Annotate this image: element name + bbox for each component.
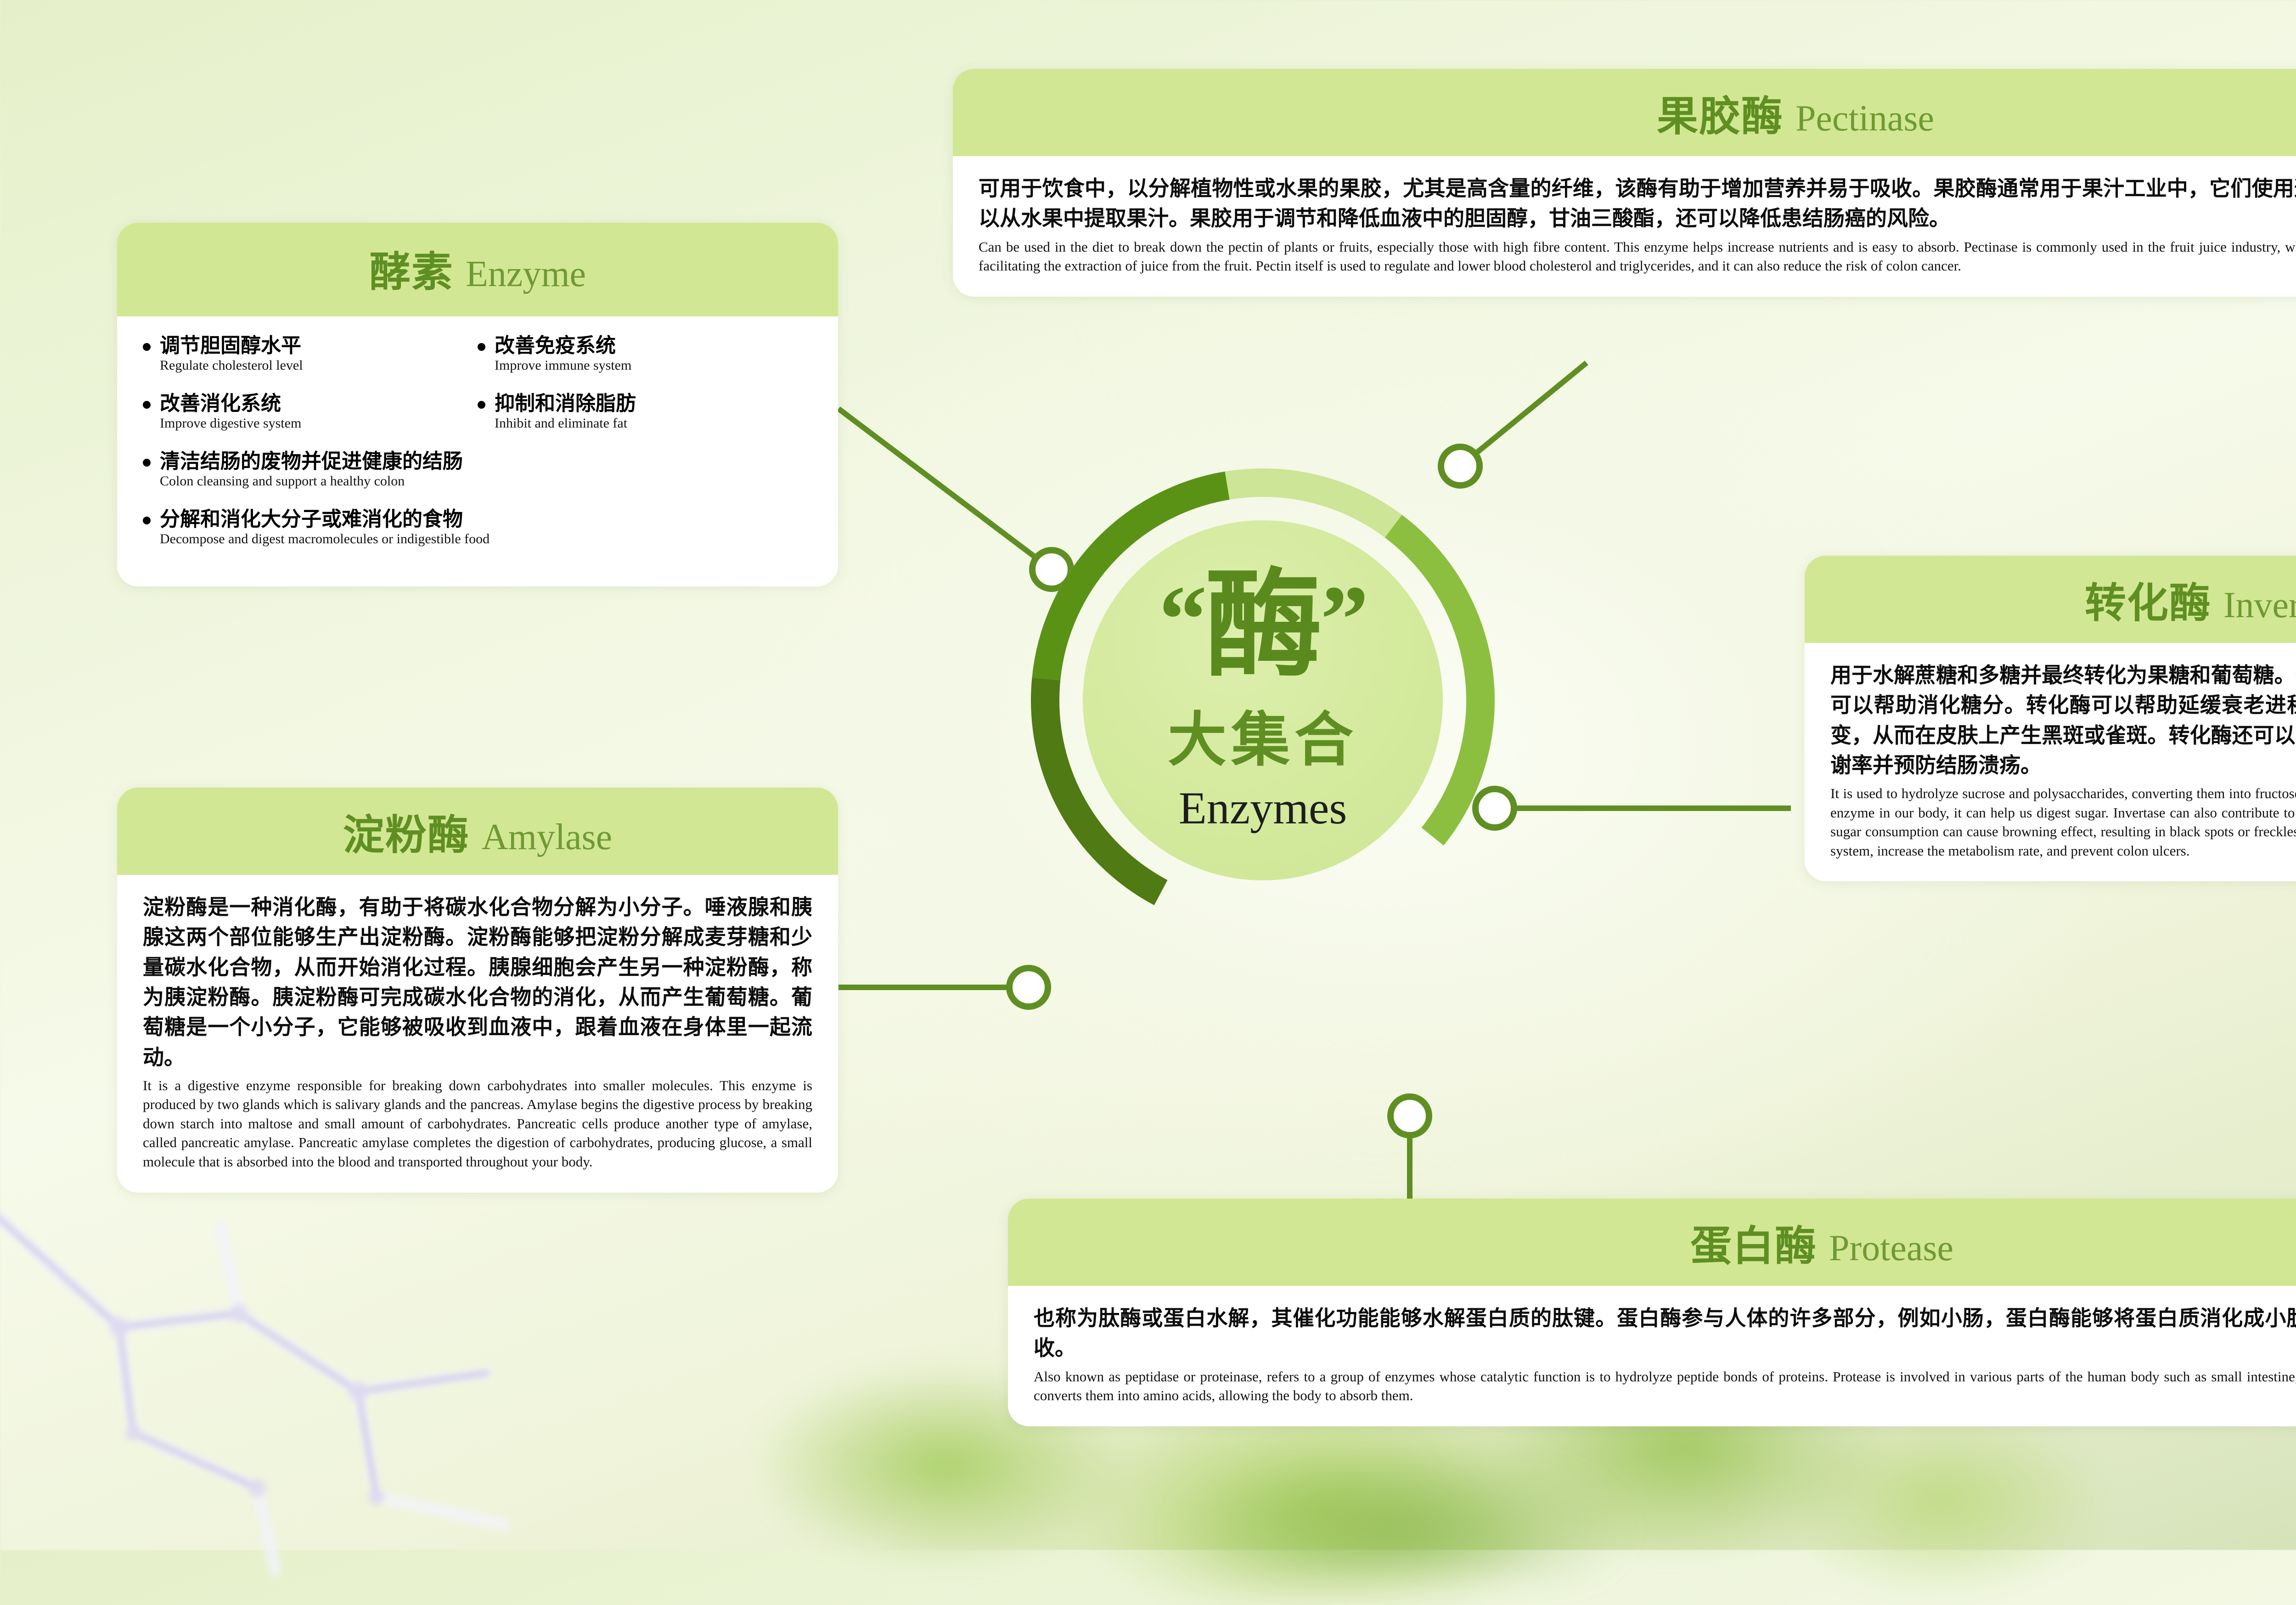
benefit-en: Decompose and digest macromolecules or i… — [160, 531, 490, 546]
connector-line-pectinase — [1460, 363, 1587, 466]
card-enzyme-title-zh: 酵素 — [369, 238, 454, 298]
benefit-zh: 清洁结肠的废物并促进健康的结肠 — [160, 450, 463, 473]
card-invertase-text-zh: 用于水解蔗糖和多糖并最终转化为果糖和葡萄糖。一旦我们在体内使用这种酶，它就可以帮… — [1830, 660, 2296, 780]
list-item: 分解和消化大分子或难消化的食物 Decompose and digest mac… — [143, 507, 812, 547]
card-amylase-text-zh: 淀粉酶是一种消化酶，有助于将碳水化合物分解为小分子。唾液腺和胰腺这两个部位能够生… — [143, 892, 812, 1072]
card-enzyme-header: 酵素 Enzyme — [117, 223, 838, 316]
card-amylase-header: 淀粉酶 Amylase — [117, 788, 838, 875]
card-amylase-body: 淀粉酶是一种消化酶，有助于将碳水化合物分解为小分子。唾液腺和胰腺这两个部位能够生… — [117, 875, 838, 1193]
benefit-en: Improve digestive system — [160, 416, 301, 431]
card-protease: 蛋白酶 Protease 也称为肽酶或蛋白水解，其催化功能能够水解蛋白质的肽键。… — [1008, 1199, 2296, 1426]
hub-core: “ 酶 ” 大集合 Enzymes — [1083, 520, 1443, 880]
card-pectinase-text-zh: 可用于饮食中，以分解植物性或水果的果胶，尤其是高含量的纤维，该酶有助于增加营养并… — [979, 174, 2296, 234]
card-invertase-header: 转化酶 Invertase — [1805, 556, 2296, 643]
card-amylase-title-zh: 淀粉酶 — [343, 801, 470, 861]
hub-subtitle-en: Enzymes — [1179, 782, 1347, 834]
card-pectinase-title-zh: 果胶酶 — [1657, 83, 1784, 142]
list-item: 调节胆固醇水平 Regulate cholesterol level — [143, 334, 478, 373]
connector-line-enzyme — [838, 409, 1052, 569]
card-enzyme-title-en: Enzyme — [466, 253, 586, 295]
card-protease-body: 也称为肽酶或蛋白水解，其催化功能能够水解蛋白质的肽键。蛋白酶参与人体的许多部分，… — [1008, 1286, 2296, 1426]
benefit-zh: 分解和消化大分子或难消化的食物 — [160, 507, 463, 531]
card-enzyme: 酵素 Enzyme 调节胆固醇水平 Regulate cholesterol l… — [117, 223, 838, 586]
bullet-dot-icon — [143, 343, 151, 351]
hub-character-group: “ 酶 ” — [1159, 567, 1367, 684]
benefit-zh: 调节胆固醇水平 — [160, 334, 301, 357]
card-protease-title-en: Protease — [1829, 1228, 1953, 1269]
quote-close: ” — [1321, 567, 1367, 673]
card-invertase-title-zh: 转化酶 — [2085, 569, 2212, 629]
benefit-zh: 改善消化系统 — [160, 392, 281, 415]
card-amylase: 淀粉酶 Amylase 淀粉酶是一种消化酶，有助于将碳水化合物分解为小分子。唾液… — [117, 788, 838, 1193]
hub-character: 酶 — [1205, 567, 1320, 684]
benefit-en: Improve immune system — [495, 358, 631, 373]
bullet-dot-icon — [143, 517, 151, 524]
enzyme-benefit-list: 调节胆固醇水平 Regulate cholesterol level 改善免疫系… — [143, 334, 812, 565]
benefit-zh: 改善免疫系统 — [495, 334, 616, 357]
list-item: 抑制和消除脂肪 Inhibit and eliminate fat — [478, 392, 812, 431]
benefit-en: Colon cleansing and support a healthy co… — [160, 473, 405, 489]
card-enzyme-body: 调节胆固醇水平 Regulate cholesterol level 改善免疫系… — [117, 316, 838, 586]
hub-subtitle-zh: 大集合 — [1168, 692, 1358, 777]
card-protease-text-zh: 也称为肽酶或蛋白水解，其催化功能能够水解蛋白质的肽键。蛋白酶参与人体的许多部分，… — [1034, 1303, 2296, 1363]
card-invertase-body: 用于水解蔗糖和多糖并最终转化为果糖和葡萄糖。一旦我们在体内使用这种酶，它就可以帮… — [1805, 643, 2296, 881]
bullet-dot-icon — [478, 401, 485, 409]
list-item: 清洁结肠的废物并促进健康的结肠 Colon cleansing and supp… — [143, 450, 812, 489]
card-amylase-title-en: Amylase — [482, 817, 612, 858]
benefit-en: Inhibit and eliminate fat — [495, 416, 627, 431]
card-protease-header: 蛋白酶 Protease — [1008, 1199, 2296, 1286]
bullet-dot-icon — [143, 401, 151, 409]
card-pectinase-title-en: Pectinase — [1795, 98, 1934, 140]
card-pectinase: 果胶酶 Pectinase 可用于饮食中，以分解植物性或水果的果胶，尤其是高含量… — [953, 69, 2296, 297]
center-hub: “ 酶 ” 大集合 Enzymes — [1029, 466, 1497, 935]
card-pectinase-header: 果胶酶 Pectinase — [953, 69, 2296, 156]
card-protease-text-en: Also known as peptidase or proteinase, r… — [1034, 1367, 2296, 1405]
connector-node-amylase — [1009, 968, 1048, 1007]
list-item: 改善消化系统 Improve digestive system — [143, 392, 478, 431]
card-invertase: 转化酶 Invertase 用于水解蔗糖和多糖并最终转化为果糖和葡萄糖。一旦我们… — [1805, 556, 2296, 881]
card-protease-title-zh: 蛋白酶 — [1690, 1212, 1817, 1272]
card-pectinase-body: 可用于饮食中，以分解植物性或水果的果胶，尤其是高含量的纤维，该酶有助于增加营养并… — [953, 156, 2296, 297]
bullet-dot-icon — [478, 343, 485, 351]
list-item: 改善免疫系统 Improve immune system — [478, 334, 812, 373]
quote-open: “ — [1159, 567, 1205, 673]
benefit-zh: 抑制和消除脂肪 — [495, 392, 636, 415]
bullet-dot-icon — [143, 459, 151, 467]
card-invertase-title-en: Invertase — [2223, 585, 2296, 626]
card-pectinase-text-en: Can be used in the diet to break down th… — [979, 237, 2296, 276]
card-invertase-text-en: It is used to hydrolyze sucrose and poly… — [1830, 784, 2296, 860]
benefit-en: Regulate cholesterol level — [160, 358, 303, 373]
card-amylase-text-en: It is a digestive enzyme responsible for… — [143, 1076, 812, 1171]
connector-node-protease — [1390, 1097, 1429, 1135]
